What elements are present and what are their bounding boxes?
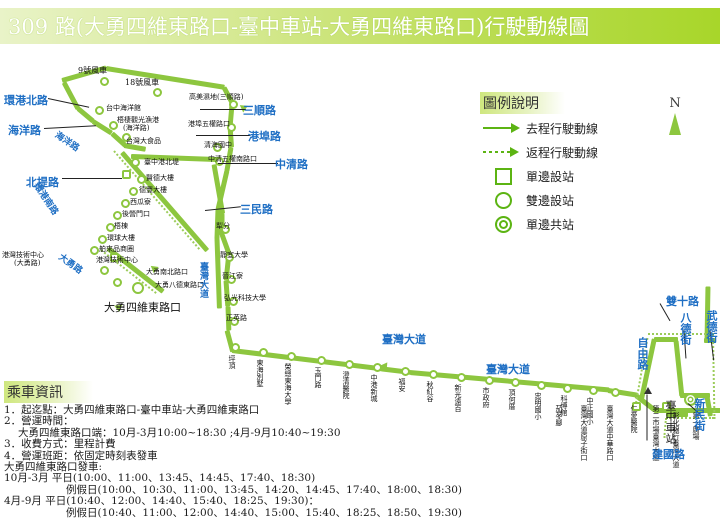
legend-label: 返程行駛動線 [526, 144, 598, 161]
legend-label: 單邊設站 [526, 168, 574, 185]
station-marker[interactable] [287, 352, 296, 361]
route-segment [106, 66, 225, 90]
station-label: 西瓜寮 [130, 198, 151, 206]
station-label: 忠明國小 [534, 392, 542, 420]
station-label: 弘光科技大學 [224, 294, 266, 302]
station-label: 中清五權南路口 [208, 155, 257, 163]
station-label: 環球大樓 [107, 234, 135, 242]
info-line: 例假日(10:40、11:00、12:00、14:40、15:00、15:40、… [4, 508, 484, 519]
station-label: 臺中車站 [662, 400, 678, 444]
station-marker[interactable] [317, 356, 326, 365]
leader-line [62, 178, 122, 179]
legend-heading: 圖例說明 [480, 92, 565, 114]
station-marker[interactable] [537, 381, 546, 390]
station-label: 大勇南北路口 [146, 268, 188, 276]
station-marker[interactable] [611, 388, 620, 397]
dotted-arrow-icon [480, 147, 526, 157]
ride-info-heading: 乘車資訊 [4, 381, 93, 403]
station-label: 賢德大樓 [146, 174, 174, 182]
station-marker[interactable] [100, 77, 109, 86]
station-label: 梧棲觀光漁港 [117, 116, 159, 124]
station-label: (海洋路) [123, 124, 149, 132]
legend-item-both-side: 雙邊設站 [480, 190, 650, 210]
station-label: 正英路 [226, 314, 247, 322]
leader-line [647, 395, 648, 441]
page-title-bar: 309 路(大勇四維東路口-臺中車站-大勇四維東路口)行駛動線圖 [0, 8, 720, 44]
station-marker[interactable] [345, 360, 354, 369]
road-label: 自由路 [634, 337, 650, 370]
station-marker[interactable] [429, 370, 438, 379]
station-label: 台灣大食品 [126, 137, 161, 145]
station-label: 晉江寮 [222, 272, 243, 280]
north-arrow-icon [669, 113, 681, 135]
info-line: 1．起迄點：大勇四維東路口-臺中車站-大勇四維東路口 [4, 405, 484, 416]
square-icon [480, 168, 526, 185]
station-marker[interactable] [129, 187, 138, 196]
route-segment [62, 81, 80, 110]
legend: 圖例說明 去程行駛動線 返程行駛動線 單邊設站 雙邊設站 單邊共站 [480, 92, 650, 234]
station-marker[interactable] [113, 211, 122, 220]
solid-arrow-icon [480, 123, 526, 133]
station-label: 犁分 [216, 222, 230, 230]
station-marker[interactable] [563, 384, 572, 393]
road-label: 港埠路 [248, 128, 281, 144]
station-label: 靜宜大學 [220, 251, 248, 259]
station-marker[interactable] [401, 367, 410, 376]
road-label: 環港北路 [4, 92, 48, 108]
station-marker[interactable] [90, 246, 99, 255]
station-label: 舶來品商圈 [99, 245, 134, 253]
station-marker[interactable] [511, 378, 520, 387]
compass-label: N [660, 96, 690, 111]
station-label: 港灣技術中心 [96, 256, 138, 264]
leader-line [44, 125, 96, 129]
double-circle-icon [480, 216, 526, 233]
station-marker[interactable] [229, 100, 238, 109]
page-title: 309 路(大勇四維東路口-臺中車站-大勇四維東路口)行駛動線圖 [0, 11, 589, 41]
station-marker[interactable] [98, 235, 107, 244]
station-marker[interactable] [113, 278, 122, 287]
station-label: 9號風車 [78, 66, 107, 75]
station-marker[interactable] [485, 376, 494, 385]
leader-line [200, 109, 246, 110]
station-marker[interactable] [100, 266, 109, 275]
info-line: 3．收費方式：里程計費 [4, 439, 484, 450]
legend-label: 單邊共站 [526, 216, 574, 233]
legend-item-shared-stop: 單邊共站 [480, 214, 650, 234]
station-marker[interactable] [132, 282, 144, 294]
station-label: 臺灣大道原子街口 [580, 405, 588, 461]
road-label: 海洋路 [8, 122, 41, 138]
road-label: 大勇路 [56, 250, 85, 276]
road-label: 海洋路 [53, 128, 83, 154]
ride-info-panel: 乘車資訊 1．起迄點：大勇四維東路口-臺中車站-大勇四維東路口 2．營運時間： … [4, 381, 484, 519]
road-label: 武德街 [703, 310, 719, 343]
legend-item-return: 返程行駛動線 [480, 142, 650, 162]
station-marker[interactable] [231, 343, 240, 352]
leader-line [48, 98, 89, 108]
road-label: 臺灣大道 [486, 361, 530, 377]
station-label: 18號風車 [125, 78, 159, 87]
station-label: 臺灣大道中華路口 [606, 405, 614, 461]
station-marker[interactable] [153, 88, 162, 97]
compass: N [660, 96, 690, 135]
station-marker[interactable] [122, 170, 131, 179]
road-label: 八德街 [677, 312, 693, 345]
station-label: 後營門口 [122, 210, 150, 218]
road-label: 雙十路 [666, 293, 699, 309]
station-label: 茄苳腳 [555, 405, 563, 426]
legend-label: 雙邊設站 [526, 192, 574, 209]
route-segment [215, 238, 222, 308]
station-label: 頂何厝 [508, 389, 516, 410]
route-segment [674, 340, 685, 396]
info-line: 4月-9月 平日(10:40、12:00、14:40、15:40、18:25、1… [4, 496, 484, 507]
legend-label: 去程行駛動線 [526, 120, 598, 137]
legend-item-outbound: 去程行駛動線 [480, 118, 650, 138]
station-label: 港灣技術中心 [2, 251, 44, 259]
legend-item-single-side: 單邊設站 [480, 166, 650, 186]
road-label: 三民路 [240, 201, 273, 217]
station-marker[interactable] [259, 348, 268, 357]
station-label: 梧棟 [114, 222, 128, 230]
station-label: 台中海洋館 [106, 104, 141, 112]
station-marker[interactable] [373, 363, 382, 372]
road-label: 三順路 [243, 102, 276, 118]
station-label: 坪頂 [228, 355, 236, 369]
leader-line [218, 163, 278, 164]
station-label: 清海國中 [204, 141, 232, 149]
road-label: 建國路 [652, 446, 685, 462]
road-label: 中清路 [275, 156, 308, 172]
station-label: 仁愛醫院 [630, 405, 638, 433]
station-marker[interactable] [137, 175, 146, 184]
route-map-page: 309 路(大勇四維東路口-臺中車站-大勇四維東路口)行駛動線圖 [0, 0, 720, 527]
station-marker[interactable] [589, 386, 598, 395]
circle-icon [480, 192, 526, 209]
station-label: 港埠五權路口 [188, 120, 230, 128]
station-marker[interactable] [131, 158, 140, 167]
station-marker[interactable] [121, 199, 130, 208]
station-label: 大勇四維東路口 [104, 299, 181, 315]
station-label: (大勇路) [14, 259, 40, 267]
road-label: 臺灣大道 [197, 262, 210, 298]
station-label: 德豐大樓 [139, 186, 167, 194]
station-label: 高美濕地(三順路) [189, 93, 243, 101]
direction-arrow [644, 387, 652, 394]
road-label: 新民街 [691, 398, 707, 431]
station-label: 臺中港北堤 [144, 158, 179, 166]
station-marker[interactable] [95, 106, 104, 115]
ride-info-lines: 1．起迄點：大勇四維東路口-臺中車站-大勇四維東路口 2．營運時間： 大勇四維東… [4, 405, 484, 519]
road-label: 臺灣大道 [382, 331, 426, 347]
leader-line [196, 135, 250, 136]
